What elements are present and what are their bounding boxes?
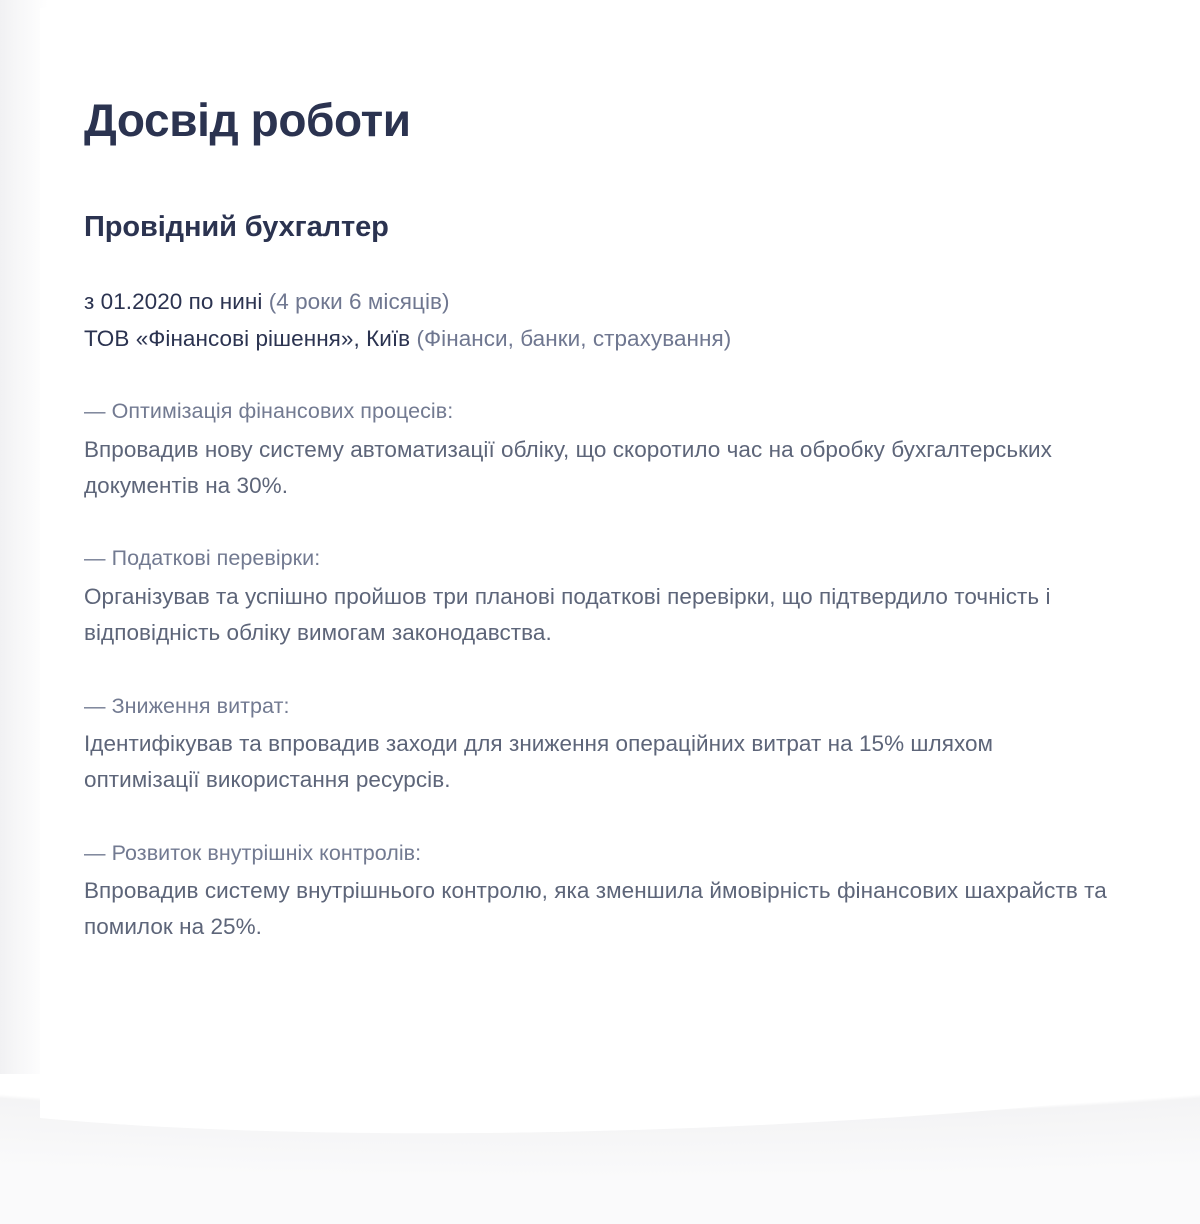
achievement-body: Впровадив систему внутрішнього контролю,… xyxy=(84,873,1114,946)
page-title: Досвід роботи xyxy=(84,95,1124,146)
resume-content: Досвід роботи Провідний бухгалтер з 01.2… xyxy=(84,95,1124,946)
achievement-body: Організував та успішно пройшов три плано… xyxy=(84,579,1114,652)
achievement-body: Впровадив нову систему автоматизації обл… xyxy=(84,432,1114,505)
achievement-heading: — Оптимізація фінансових процесів: xyxy=(84,395,1124,427)
job-title: Провідний бухгалтер xyxy=(84,210,1124,245)
achievement-section: — Розвиток внутрішніх контролів: Впровад… xyxy=(84,837,1124,946)
employment-meta: з 01.2020 по нині (4 роки 6 місяців) ТОВ… xyxy=(84,284,1124,357)
employer-industry: (Фінанси, банки, страхування) xyxy=(416,326,731,351)
achievement-body: Ідентифікував та впровадив заходи для зн… xyxy=(84,726,1114,799)
employment-period-line: з 01.2020 по нині (4 роки 6 місяців) xyxy=(84,284,1124,320)
employer-line: ТОВ «Фінансові рішення», Київ (Фінанси, … xyxy=(84,321,1124,357)
achievement-section: — Оптимізація фінансових процесів: Впров… xyxy=(84,395,1124,504)
achievement-heading: — Зниження витрат: xyxy=(84,690,1124,722)
achievement-heading: — Податкові перевірки: xyxy=(84,542,1124,574)
employment-duration: (4 роки 6 місяців) xyxy=(269,289,450,314)
employment-dates: з 01.2020 по нині xyxy=(84,289,262,314)
employer-name: ТОВ «Фінансові рішення», Київ xyxy=(84,326,410,351)
achievement-section: — Податкові перевірки: Організував та ус… xyxy=(84,542,1124,651)
page-stage: Досвід роботи Провідний бухгалтер з 01.2… xyxy=(0,0,1200,1224)
achievement-heading: — Розвиток внутрішніх контролів: xyxy=(84,837,1124,869)
achievement-section: — Зниження витрат: Ідентифікував та впро… xyxy=(84,690,1124,799)
